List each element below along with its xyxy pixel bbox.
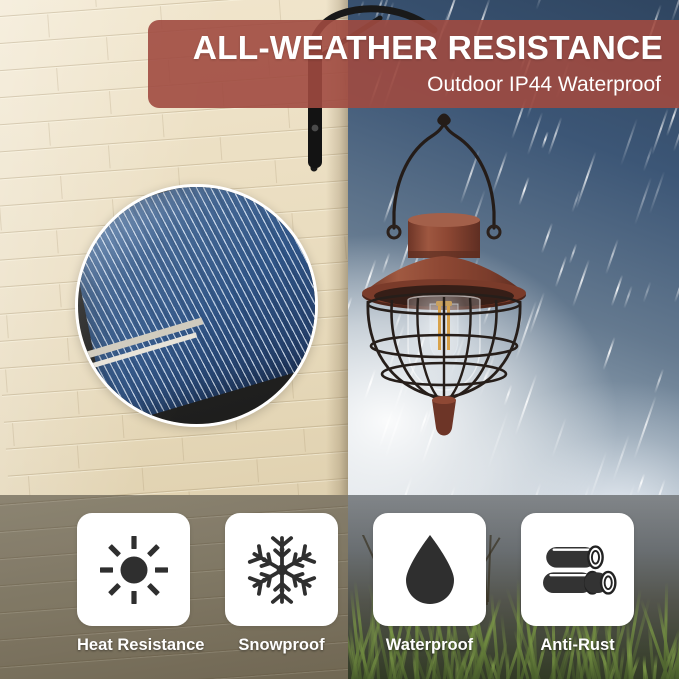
- feature-strip: Heat Resistance: [0, 495, 679, 679]
- solar-panel-frame: [75, 184, 318, 427]
- sun-icon: [98, 534, 170, 606]
- snowflake-icon: [244, 532, 320, 608]
- feature-card-list: Heat Resistance: [0, 495, 679, 679]
- feature-label: Snowproof: [225, 635, 338, 655]
- banner-subtitle: Outdoor IP44 Waterproof: [148, 69, 663, 100]
- water-drop-icon: [398, 532, 462, 608]
- feature-label: Heat Resistance: [77, 635, 190, 655]
- product-feature-image: ALL-WEATHER RESISTANCE Outdoor IP44 Wate…: [0, 0, 679, 679]
- solar-panel-cells: [75, 184, 318, 427]
- pipes-icon: [538, 539, 618, 601]
- feature-label: Waterproof: [373, 635, 486, 655]
- feature-card-surface[interactable]: [373, 513, 486, 626]
- banner-title: ALL-WEATHER RESISTANCE: [148, 29, 663, 69]
- feature-card-waterproof[interactable]: Waterproof: [373, 513, 486, 655]
- feature-card-surface[interactable]: [521, 513, 634, 626]
- feature-card-surface[interactable]: [77, 513, 190, 626]
- feature-card-heat-resistance[interactable]: Heat Resistance: [77, 513, 190, 655]
- feature-card-surface[interactable]: [225, 513, 338, 626]
- feature-label: Anti-Rust: [521, 635, 634, 655]
- feature-card-anti-rust[interactable]: Anti-Rust: [521, 513, 634, 655]
- hanging-lantern: [352, 108, 537, 458]
- solar-panel-closeup-circle: [75, 184, 318, 427]
- banner: ALL-WEATHER RESISTANCE Outdoor IP44 Wate…: [148, 20, 679, 108]
- feature-card-snowproof[interactable]: Snowproof: [225, 513, 338, 655]
